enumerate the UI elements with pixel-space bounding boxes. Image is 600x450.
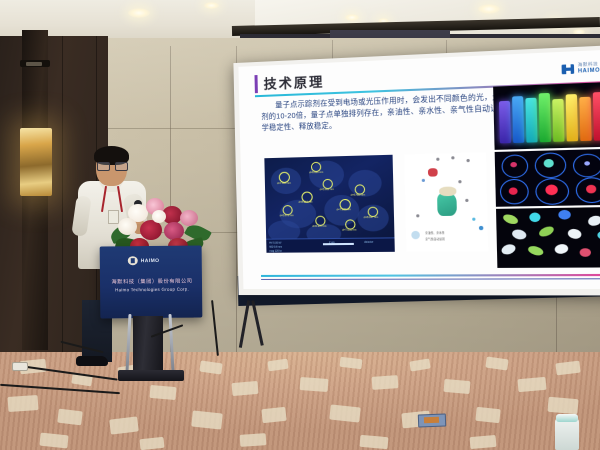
cell-fluorescence-green-image — [496, 207, 600, 268]
sem-measure-label: d=7.005 nm — [342, 229, 356, 232]
carpet-tile — [517, 377, 546, 392]
cell-white — [554, 243, 569, 255]
carpet-tile — [470, 435, 497, 449]
projection-screen: 技术原理 海默科技 HAIMO 量子点示踪剂在受到电场或光压作用时，会发出不同颜… — [233, 45, 600, 296]
cell-white — [587, 214, 600, 227]
mol-atom — [422, 179, 425, 182]
presentation-slide: 技术原理 海默科技 HAIMO 量子点示踪剂在受到电场或光压作用时，会发出不同颜… — [238, 49, 600, 289]
slide-logo-text-group: 海默科技 HAIMO — [578, 61, 600, 75]
podium-company-cn: 海默科技（集团）股份有限公司 — [110, 278, 194, 286]
flower-crimson — [140, 220, 162, 240]
podium-logo-text: HAIMO — [141, 257, 160, 263]
flower-white — [152, 210, 166, 223]
downlight-3 — [345, 14, 359, 21]
conference-room-photo: 技术原理 海默科技 HAIMO 量子点示踪剂在受到电场或光压作用时，会发出不同颜… — [0, 0, 600, 450]
podium-company-en: Haimo Technologies Group Corp. — [110, 287, 194, 293]
carpet-tile — [57, 409, 83, 426]
podium-base — [118, 370, 184, 381]
carpet-tile — [329, 404, 360, 422]
cell-blue — [558, 210, 571, 220]
sem-scale-bar — [323, 243, 354, 245]
sconce-plate — [26, 62, 42, 66]
cell-green — [502, 213, 520, 226]
cell-green — [537, 224, 555, 238]
mol-atom — [436, 158, 439, 161]
cell-white — [511, 228, 527, 241]
vial-yellow — [566, 94, 578, 141]
power-strip — [12, 362, 28, 371]
vial-green — [539, 93, 551, 142]
podium-logo: HAIMO — [128, 256, 160, 265]
carpet-floor — [0, 352, 600, 450]
sem-info-text: detector — [364, 240, 373, 243]
carpet-tile — [475, 407, 500, 423]
water-bottle — [555, 418, 579, 450]
sem-measure-label: d=8.114 nm — [299, 201, 313, 204]
speaker-shoe — [76, 356, 108, 366]
mol-cluster-teal — [437, 193, 457, 216]
sem-measure-label: d=5.902 nm — [320, 188, 334, 191]
slide-title: 技术原理 — [263, 71, 324, 93]
mol-cluster-red — [428, 168, 438, 177]
slide-logo: 海默科技 HAIMO — [562, 61, 600, 75]
mol-atom — [479, 226, 483, 230]
carpet-tile — [360, 435, 389, 449]
podium-front-panel: HAIMO 海默科技（集团）股份有限公司 Haimo Technologies … — [100, 245, 203, 318]
mol-atom — [451, 156, 454, 159]
carpet-weave — [0, 352, 600, 450]
molecule-diagram-image: 亲油性、亲水性 亲气性自动识别 — [404, 152, 488, 252]
sem-measure-label: d=8.047 nm — [364, 216, 378, 219]
sem-measure-label: d=5.671 nm — [280, 214, 294, 217]
sem-info-text: mag 120 kx — [269, 250, 281, 253]
mol-atom — [465, 199, 468, 202]
sem-info-text: WD 9.8 mm — [269, 246, 282, 249]
mol-caption-2: 亲气性自动识别 — [425, 237, 445, 241]
title-accent-bar — [254, 75, 257, 93]
floor-power-socket — [418, 414, 446, 428]
slide-footer-line — [261, 278, 600, 280]
cell-red — [580, 248, 592, 257]
vial-red — [593, 92, 600, 141]
downlight-5 — [478, 4, 500, 14]
sem-measure-label: d=6.021 nm — [309, 171, 323, 174]
podium-logo-icon — [128, 256, 138, 265]
cell-white — [567, 228, 582, 240]
flower-magenta — [164, 222, 184, 240]
vial-lime — [552, 99, 564, 142]
flower-white — [118, 218, 137, 235]
cell-white — [500, 243, 517, 257]
glasses-lens-right — [115, 162, 128, 171]
slide-logo-en: HAIMO — [578, 67, 600, 74]
sem-info-text: HV 5.00 kV — [269, 241, 281, 244]
vial-cyan — [525, 98, 537, 143]
speaker-glasses — [97, 162, 126, 169]
carpet-tile — [8, 395, 39, 412]
slide-footer-gradient — [261, 274, 600, 277]
downlight-2 — [204, 2, 219, 9]
haimo-logo-icon — [562, 64, 575, 74]
carpet-tile — [372, 375, 399, 390]
carpet-tile — [149, 385, 176, 400]
carpet-tile — [139, 437, 164, 450]
flower-pink — [180, 210, 198, 226]
glasses-lens-left — [97, 162, 110, 171]
podium-column — [133, 316, 163, 374]
vial-violet — [499, 101, 511, 144]
cell-green — [527, 244, 545, 257]
mol-atom — [416, 214, 419, 217]
sem-info-bar: HV 5.00 kV WD 9.8 mm mag 120 kx 2 µm det… — [266, 237, 395, 252]
carpet-tile — [231, 381, 258, 396]
mol-caption-1: 亲油性、亲水性 — [425, 231, 445, 235]
sem-micrograph-image: d=7.866 nm d=6.021 nm d=5.902 nm d=8.114… — [264, 155, 394, 253]
carpet-tile — [547, 397, 578, 415]
carpet-tile — [261, 407, 286, 423]
sem-scale-label: 2 µm — [329, 241, 335, 244]
sem-measure-label: d=6.480 nm — [351, 193, 365, 196]
wood-seam-1 — [62, 36, 63, 366]
mol-atom — [472, 218, 475, 221]
vial-blue — [512, 96, 524, 143]
sem-measure-label: d=6.337 nm — [312, 225, 326, 228]
sem-measure-label: d=7.233 nm — [337, 208, 351, 211]
bottle-cap — [556, 414, 578, 422]
fluorescent-vials-image — [493, 82, 600, 150]
carpet-tile — [39, 433, 68, 449]
mol-atom — [466, 159, 469, 162]
vial-orange — [579, 97, 591, 141]
mol-cluster-cream — [439, 186, 456, 196]
carpet-tile — [300, 377, 329, 392]
cell-cyan — [529, 212, 540, 222]
downlight-1 — [128, 8, 150, 18]
mol-circle — [411, 231, 420, 239]
carpet-tile — [443, 379, 470, 394]
carpet-tile — [240, 433, 267, 447]
mol-atom — [458, 180, 461, 183]
carpet-tile — [191, 410, 223, 429]
sem-measure-label: d=7.866 nm — [277, 182, 291, 185]
amber-wall-sconce — [20, 128, 52, 196]
cell-fluorescence-blue-image — [495, 149, 600, 207]
